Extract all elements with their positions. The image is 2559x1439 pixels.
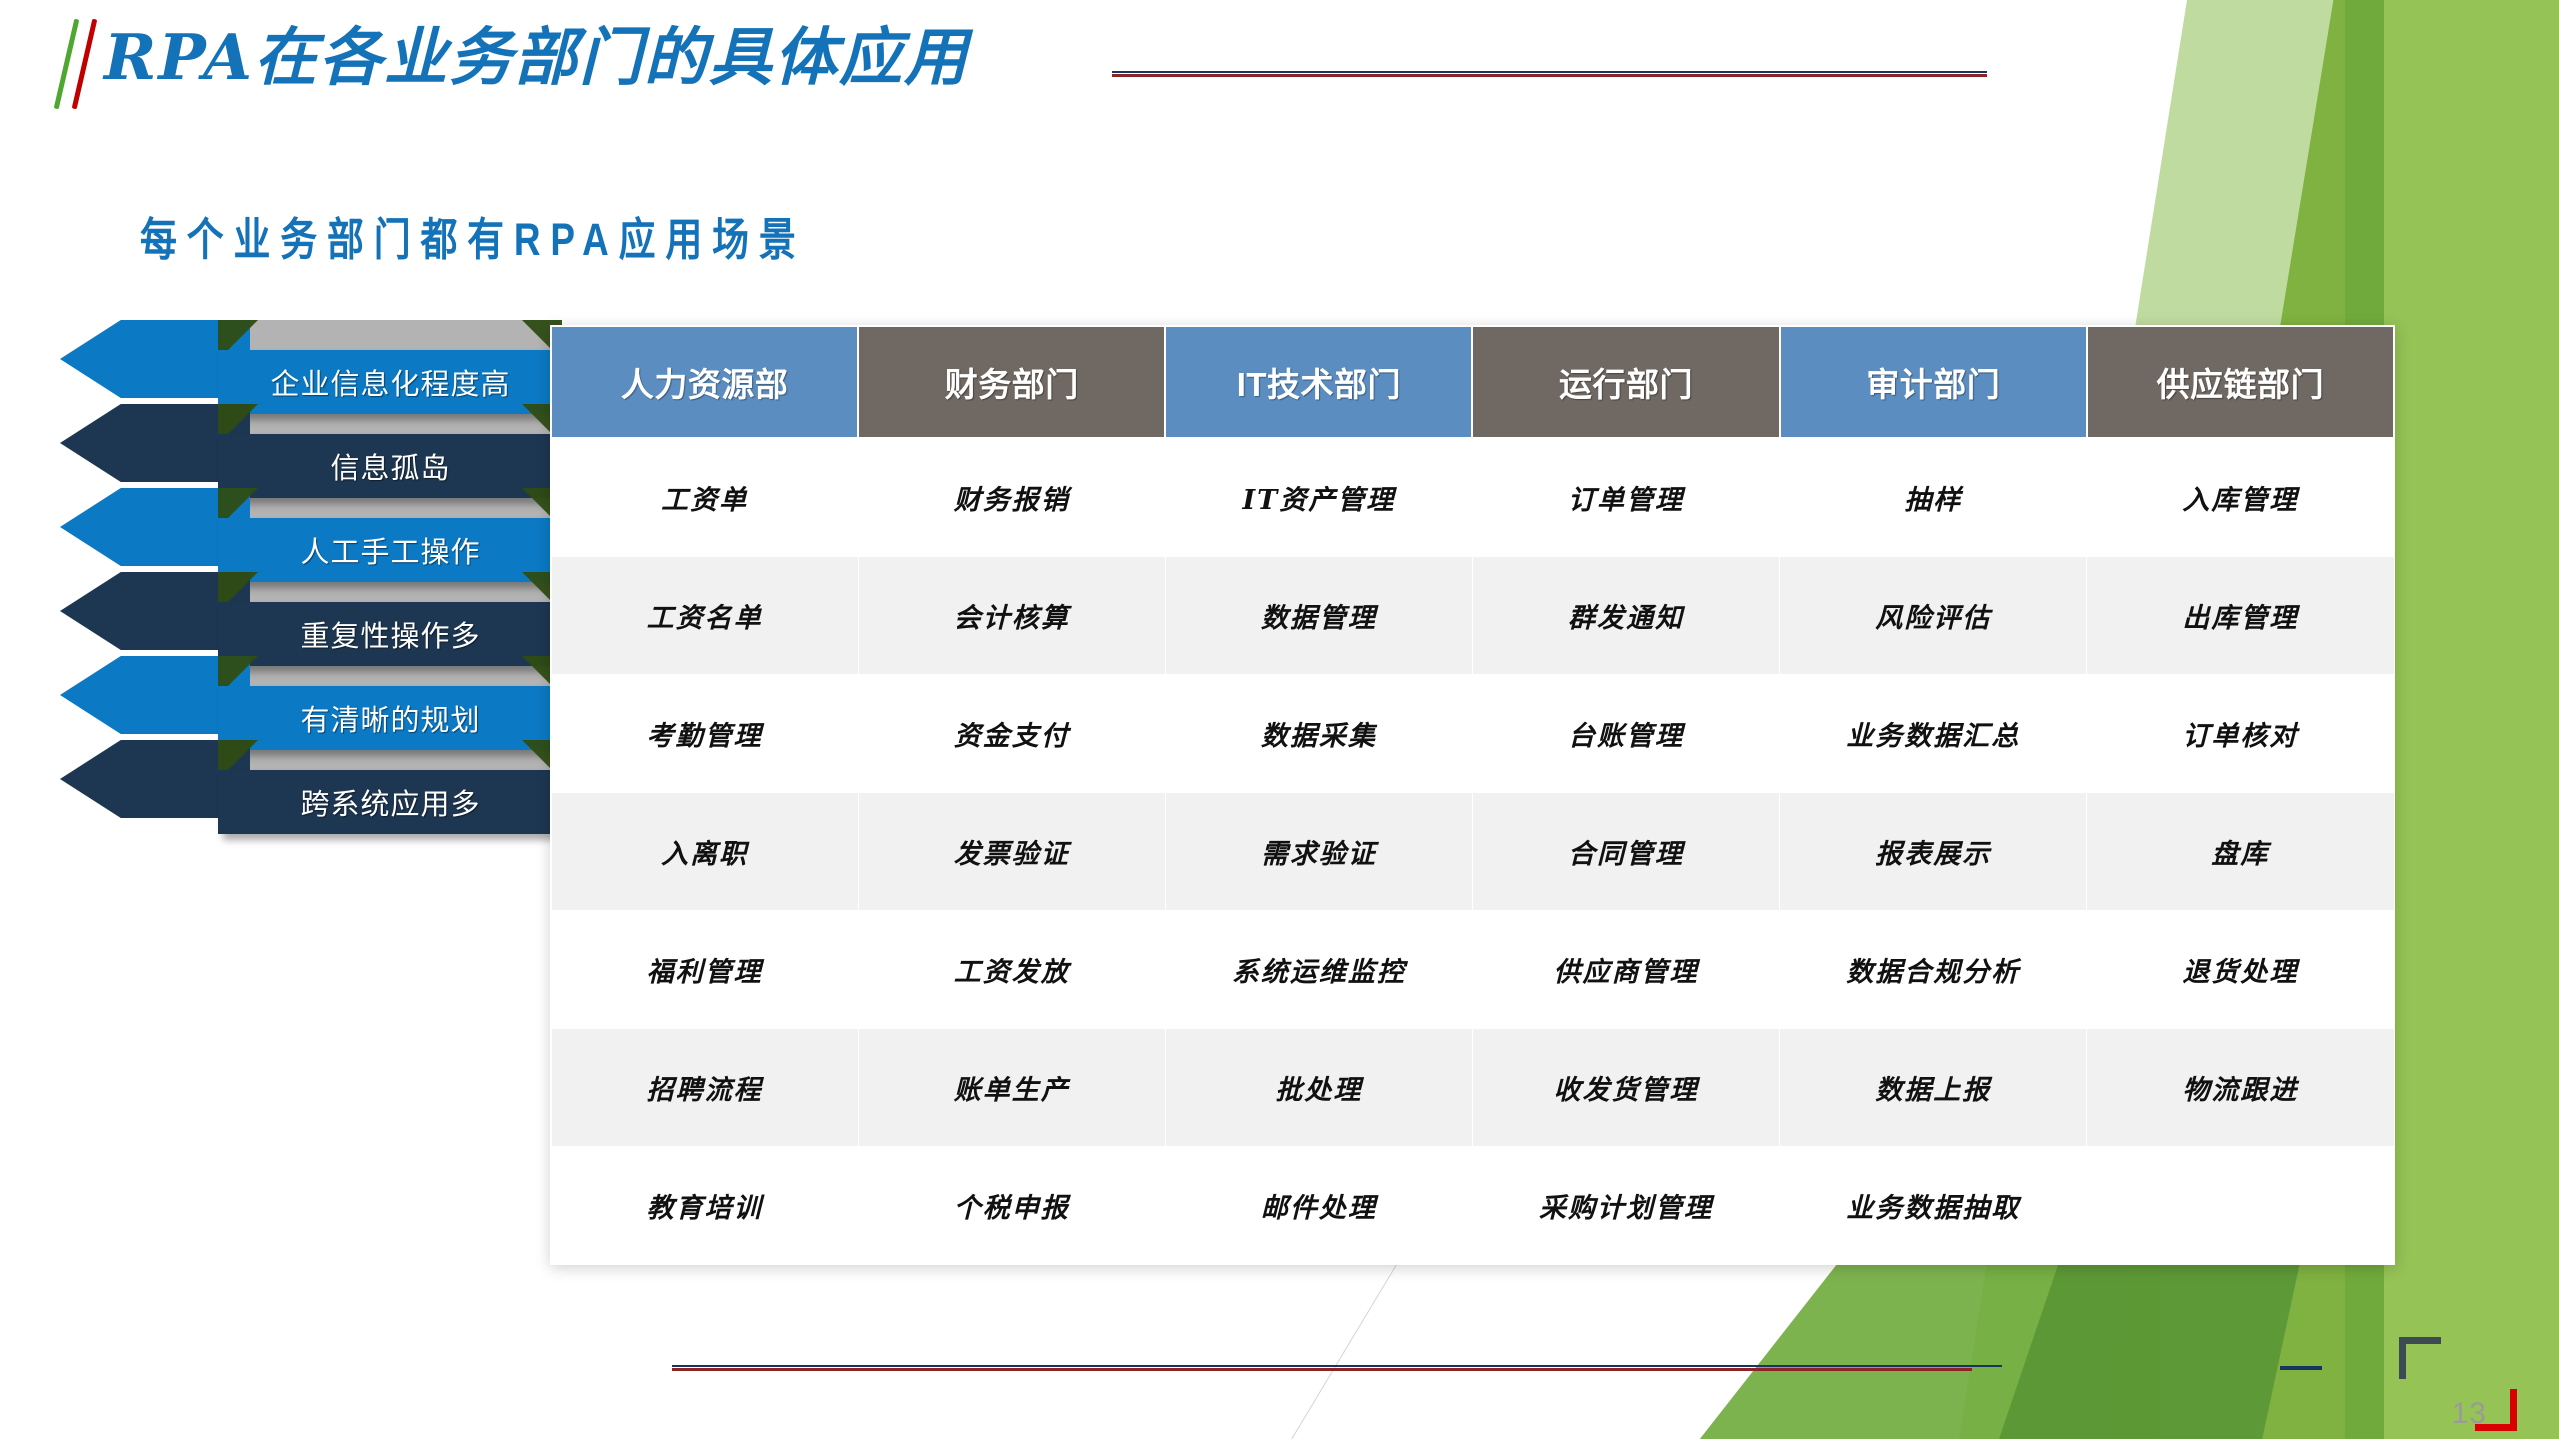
footer-rule-navy-short [2280,1366,2322,1370]
table-cell: 工资发放 [858,910,1165,1028]
table-cell: 入离职 [551,792,858,910]
table-cell [2087,1146,2394,1264]
table-cell: 物流跟进 [2087,1028,2394,1146]
corner-bracket-navy-icon [2399,1337,2441,1379]
chevron-item-6[interactable]: 跨系统应用多 [60,740,560,818]
column-header-it: IT技术部门 [1165,326,1472,438]
table-cell: 数据合规分析 [1780,910,2087,1028]
table-cell: 资金支付 [858,674,1165,792]
table-body: 工资单 财务报销 IT资产管理 订单管理 抽样 入库管理 工资名单 会计核算 数… [551,438,2394,1264]
table-cell: 数据采集 [1165,674,1472,792]
table-cell: 订单核对 [2087,674,2394,792]
table-cell: 财务报销 [858,438,1165,556]
page-title: RPA在各业务部门的具体应用 [104,16,969,98]
table-cell: 出库管理 [2087,556,2394,674]
chevron-item-4[interactable]: 重复性操作多 [60,572,560,650]
page-subtitle: 每个业务部门都有RPA应用场景 [140,203,806,268]
table-header-row: 人力资源部 财务部门 IT技术部门 运行部门 审计部门 供应链部门 [551,326,2394,438]
table-cell: 供应商管理 [1472,910,1779,1028]
table-cell: 风险评估 [1780,556,2087,674]
table-cell: IT资产管理 [1165,438,1472,556]
table-cell: 采购计划管理 [1472,1146,1779,1264]
column-header-audit: 审计部门 [1780,326,2087,438]
table-cell: 个税申报 [858,1146,1165,1264]
table-cell: 发票验证 [858,792,1165,910]
title-slash-mark [62,18,110,110]
table-cell: 合同管理 [1472,792,1779,910]
table-cell: 批处理 [1165,1028,1472,1146]
table-row: 教育培训 个税申报 邮件处理 采购计划管理 业务数据抽取 [551,1146,2394,1264]
table-cell: 入库管理 [2087,438,2394,556]
chevron-item-3[interactable]: 人工手工操作 [60,488,560,566]
table-cell: 需求验证 [1165,792,1472,910]
table-cell: 账单生产 [858,1028,1165,1146]
table-cell: 业务数据抽取 [1780,1146,2087,1264]
chevron-list: 企业信息化程度高 信息孤岛 人工手工操作 重复性操作多 有清晰的规划 [60,320,530,800]
table-cell: 群发通知 [1472,556,1779,674]
column-header-hr: 人力资源部 [551,326,858,438]
footer-rule-navy [672,1365,2002,1367]
table-row: 工资名单 会计核算 数据管理 群发通知 风险评估 出库管理 [551,556,2394,674]
table-cell: 工资名单 [551,556,858,674]
table-cell: 系统运维监控 [1165,910,1472,1028]
table-cell: 盘库 [2087,792,2394,910]
department-table-card: 人力资源部 财务部门 IT技术部门 运行部门 审计部门 供应链部门 工资单 财务… [550,325,2395,1265]
table-cell: 邮件处理 [1165,1146,1472,1264]
column-header-finance: 财务部门 [858,326,1165,438]
table-cell: 台账管理 [1472,674,1779,792]
table-cell: 会计核算 [858,556,1165,674]
table-cell: 退货处理 [2087,910,2394,1028]
table-row: 福利管理 工资发放 系统运维监控 供应商管理 数据合规分析 退货处理 [551,910,2394,1028]
table-cell: 订单管理 [1472,438,1779,556]
table-cell: 招聘流程 [551,1028,858,1146]
table-cell: 福利管理 [551,910,858,1028]
table-row: 考勤管理 资金支付 数据采集 台账管理 业务数据汇总 订单核对 [551,674,2394,792]
chevron-label: 跨系统应用多 [218,770,563,834]
table-cell: 业务数据汇总 [1780,674,2087,792]
green-strip-bright-decor [2384,0,2559,1439]
page-number: 13 [2452,1397,2487,1431]
table-row: 工资单 财务报销 IT资产管理 订单管理 抽样 入库管理 [551,438,2394,556]
table-cell: 教育培训 [551,1146,858,1264]
table-cell: 数据管理 [1165,556,1472,674]
chevron-item-2[interactable]: 信息孤岛 [60,404,560,482]
column-header-operation: 运行部门 [1472,326,1779,438]
column-header-supply: 供应链部门 [2087,326,2394,438]
table-cell: 工资单 [551,438,858,556]
slide-canvas: RPA在各业务部门的具体应用 每个业务部门都有RPA应用场景 企业信息化程度高 … [0,0,2559,1439]
table-cell: 收发货管理 [1472,1028,1779,1146]
table-cell: 数据上报 [1780,1028,2087,1146]
table-head: 人力资源部 财务部门 IT技术部门 运行部门 审计部门 供应链部门 [551,326,2394,438]
table-cell: 报表展示 [1780,792,2087,910]
title-rule-navy [1112,71,1987,73]
title-rule-red [1112,74,1987,77]
table-cell: 考勤管理 [551,674,858,792]
chevron-item-1[interactable]: 企业信息化程度高 [60,320,560,398]
chevron-item-5[interactable]: 有清晰的规划 [60,656,560,734]
table-row: 招聘流程 账单生产 批处理 收发货管理 数据上报 物流跟进 [551,1028,2394,1146]
footer-rule-red [672,1368,1972,1371]
table-cell: 抽样 [1780,438,2087,556]
table-row: 入离职 发票验证 需求验证 合同管理 报表展示 盘库 [551,792,2394,910]
department-table: 人力资源部 财务部门 IT技术部门 运行部门 审计部门 供应链部门 工资单 财务… [550,325,2395,1265]
